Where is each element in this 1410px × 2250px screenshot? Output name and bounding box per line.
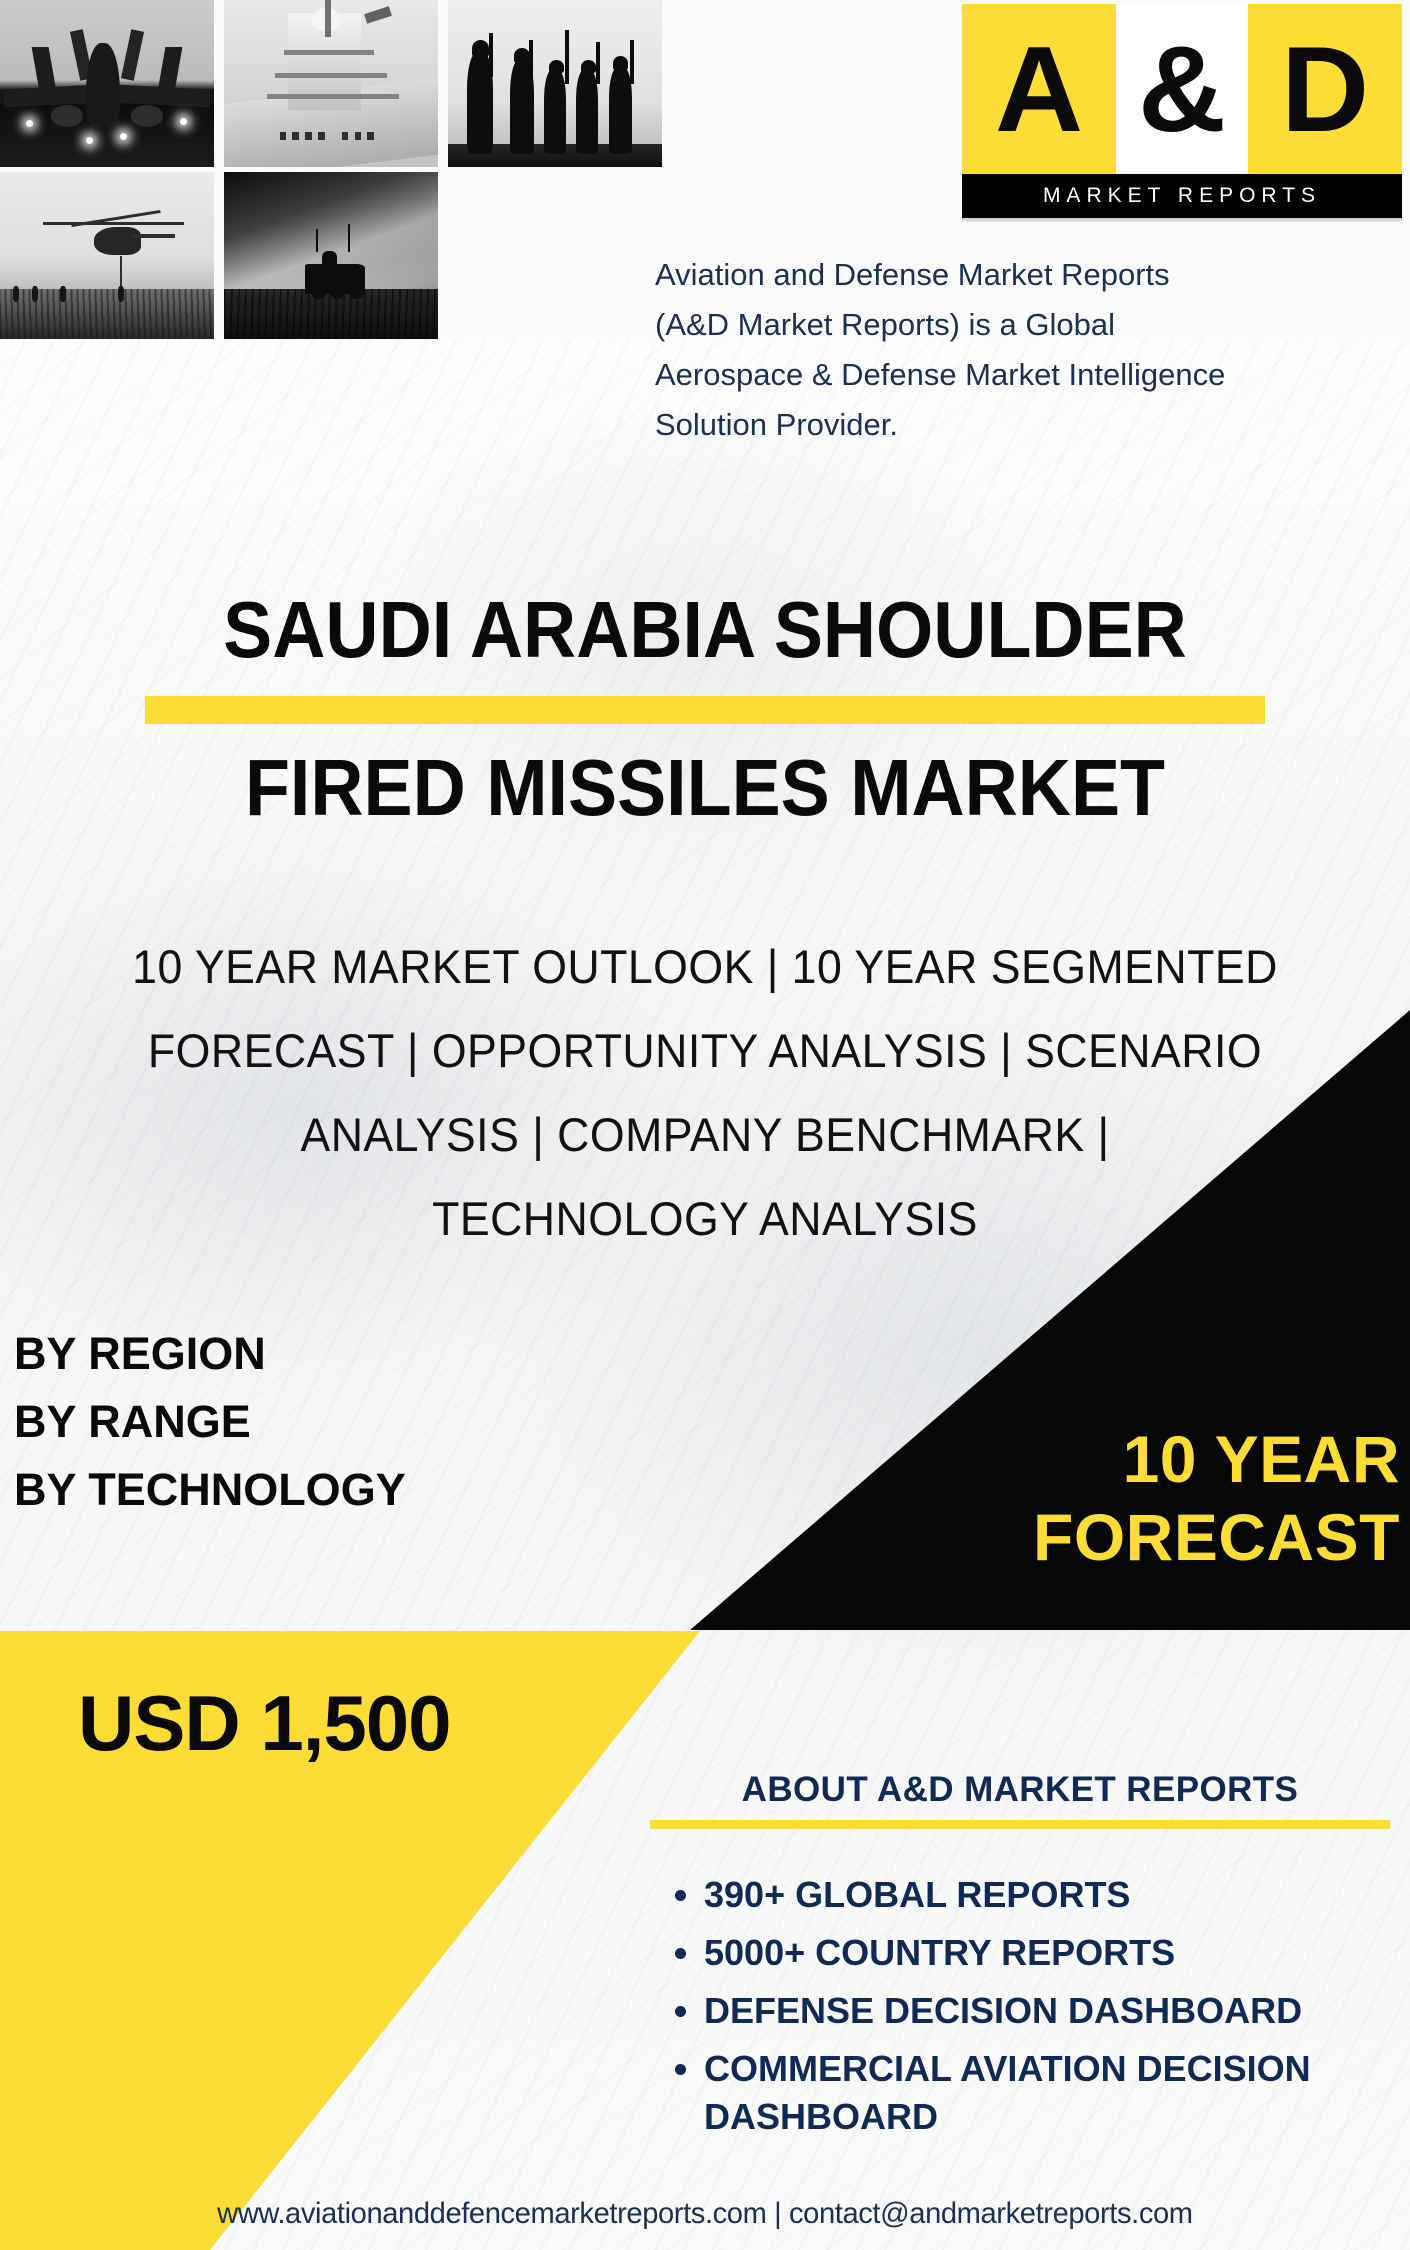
about-section: ABOUT A&D MARKET REPORTS 390+ GLOBAL REP…	[650, 1770, 1390, 2151]
armored-vehicle-photo	[224, 172, 438, 339]
logo-letter-blocks: A & D	[962, 4, 1402, 174]
intro-line-3: Aerospace & Defense Market Intelligence	[655, 350, 1400, 400]
report-title: SAUDI ARABIA SHOULDER FIRED MISSILES MAR…	[0, 590, 1410, 828]
subtitle-line-4: TECHNOLOGY ANALYSIS	[88, 1177, 1323, 1261]
segment-item-region: BY REGION	[14, 1320, 634, 1388]
intro-line-4: Solution Provider.	[655, 400, 1400, 450]
forecast-badge-line-2: FORECAST	[680, 1498, 1400, 1576]
soldiers-silhouette-photo	[448, 0, 662, 167]
fighter-jet-photo	[0, 0, 214, 167]
helicopter-photo	[0, 172, 214, 339]
about-bullet-aviation-dashboard: COMMERCIAL AVIATION DECISION DASHBOARD	[704, 2045, 1390, 2141]
footer-contact-text[interactable]: www.aviationanddefencemarketreports.com …	[217, 2197, 1193, 2231]
logo-letter-a: A	[962, 4, 1116, 174]
subtitle-line-1: 10 YEAR MARKET OUTLOOK | 10 YEAR SEGMENT…	[88, 925, 1323, 1009]
logo-shadow	[962, 218, 1402, 223]
forecast-badge: 10 YEAR FORECAST	[680, 1420, 1400, 1576]
title-line-2: FIRED MISSILES MARKET	[56, 748, 1353, 828]
about-bullet-country-reports: 5000+ COUNTRY REPORTS	[704, 1929, 1390, 1977]
footer-contact-bar: www.aviationanddefencemarketreports.com …	[0, 2178, 1410, 2250]
price-label: USD 1,500	[78, 1678, 451, 1769]
title-divider-bar	[145, 696, 1265, 724]
subtitle-line-2: FORECAST | OPPORTUNITY ANALYSIS | SCENAR…	[88, 1009, 1323, 1093]
company-intro-paragraph: Aviation and Defense Market Reports (A&D…	[655, 250, 1400, 450]
segment-item-technology: BY TECHNOLOGY	[14, 1456, 634, 1524]
about-heading: ABOUT A&D MARKET REPORTS	[650, 1770, 1390, 1810]
about-underline-bar	[650, 1820, 1390, 1829]
logo-ampersand: &	[1116, 4, 1248, 174]
intro-line-1: Aviation and Defense Market Reports	[655, 250, 1400, 300]
title-line-1: SAUDI ARABIA SHOULDER	[56, 590, 1353, 670]
brand-logo[interactable]: A & D MARKET REPORTS	[962, 4, 1402, 214]
intro-line-2: (A&D Market Reports) is a Global	[655, 300, 1400, 350]
segmentation-list: BY REGION BY RANGE BY TECHNOLOGY	[14, 1320, 634, 1524]
logo-tagline: MARKET REPORTS	[1043, 184, 1321, 208]
report-subtitle: 10 YEAR MARKET OUTLOOK | 10 YEAR SEGMENT…	[88, 925, 1323, 1261]
poster-root: A & D MARKET REPORTS Aviation and Defens…	[0, 0, 1410, 2250]
about-bullet-defense-dashboard: DEFENSE DECISION DASHBOARD	[704, 1987, 1390, 2035]
subtitle-line-3: ANALYSIS | COMPANY BENCHMARK |	[88, 1093, 1323, 1177]
warship-photo	[224, 0, 438, 167]
forecast-badge-line-1: 10 YEAR	[680, 1420, 1400, 1498]
photo-grid	[0, 0, 650, 340]
about-bullet-list: 390+ GLOBAL REPORTS 5000+ COUNTRY REPORT…	[704, 1871, 1390, 2141]
about-bullet-global-reports: 390+ GLOBAL REPORTS	[704, 1871, 1390, 1919]
logo-tagline-bar: MARKET REPORTS	[962, 174, 1402, 218]
segment-item-range: BY RANGE	[14, 1388, 634, 1456]
logo-letter-d: D	[1248, 4, 1402, 174]
